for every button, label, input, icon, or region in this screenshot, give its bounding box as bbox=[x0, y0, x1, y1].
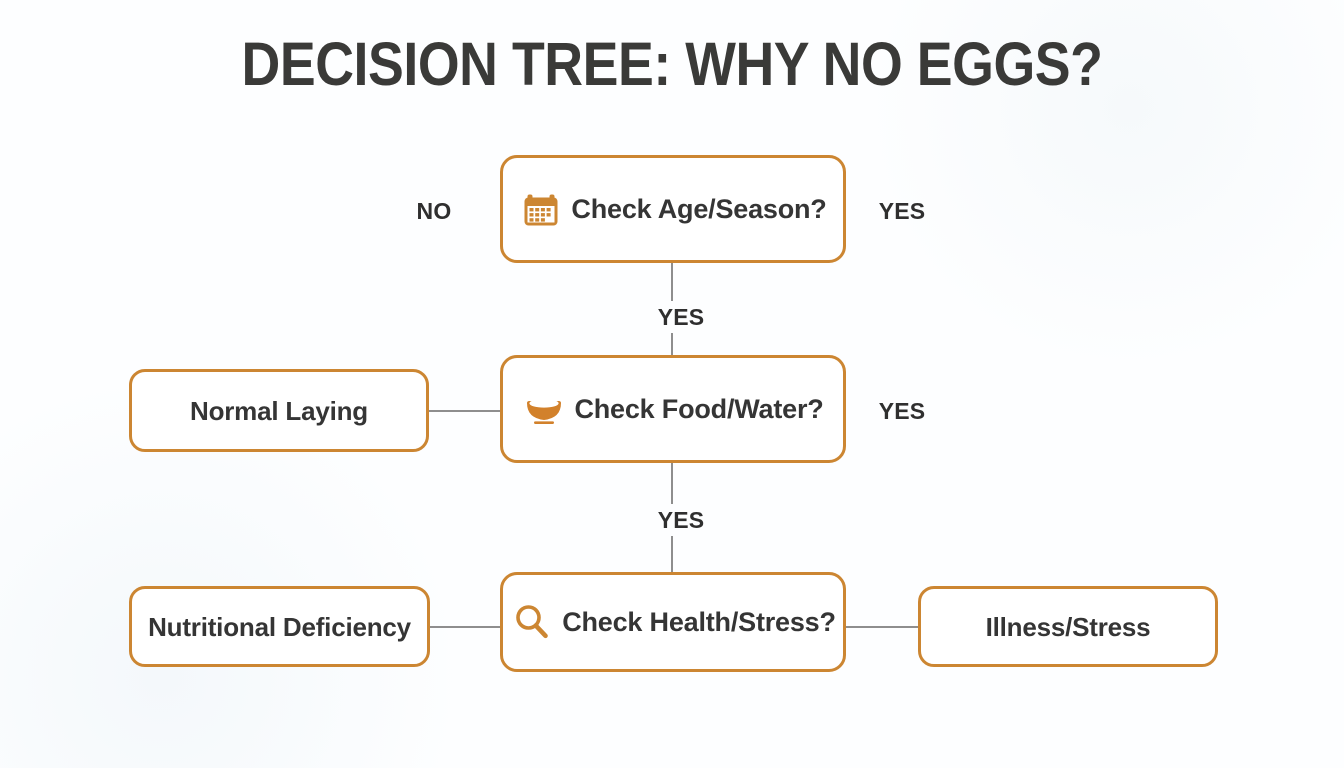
node-label: Check Food/Water? bbox=[574, 394, 823, 424]
magnifier-icon bbox=[510, 600, 554, 644]
edge-health-to-nutrition bbox=[430, 626, 501, 628]
page-title: DECISION TREE: WHY NO EGGS? bbox=[81, 26, 1264, 102]
node-label: Illness/Stress bbox=[986, 612, 1151, 642]
edge-health-to-illness bbox=[845, 626, 919, 628]
calendar-icon bbox=[519, 187, 563, 231]
edge-label-food-to-health: YES bbox=[624, 504, 738, 536]
edge-label-age-to-food: YES bbox=[624, 301, 738, 333]
node-check-age-season[interactable]: Check Age/Season? bbox=[500, 155, 846, 263]
edge-label-age-yes: YES bbox=[854, 198, 950, 224]
node-label: Check Health/Stress? bbox=[562, 607, 836, 637]
node-nutritional-deficiency[interactable]: Nutritional Deficiency bbox=[129, 586, 430, 667]
edge-label-age-no: NO bbox=[386, 198, 482, 224]
node-normal-laying[interactable]: Normal Laying bbox=[129, 369, 429, 452]
diagram-canvas: DECISION TREE: WHY NO EGGS? YES YES NO Y… bbox=[0, 0, 1344, 768]
node-label: Normal Laying bbox=[190, 396, 368, 426]
edge-food-to-normal bbox=[429, 410, 501, 412]
node-illness-stress[interactable]: Illness/Stress bbox=[918, 586, 1218, 667]
bowl-icon bbox=[522, 387, 566, 431]
node-label: Check Age/Season? bbox=[571, 194, 826, 224]
edge-label-food-yes: YES bbox=[854, 398, 950, 424]
node-check-food-water[interactable]: Check Food/Water? bbox=[500, 355, 846, 463]
node-label: Nutritional Deficiency bbox=[148, 612, 411, 642]
node-check-health-stress[interactable]: Check Health/Stress? bbox=[500, 572, 846, 672]
